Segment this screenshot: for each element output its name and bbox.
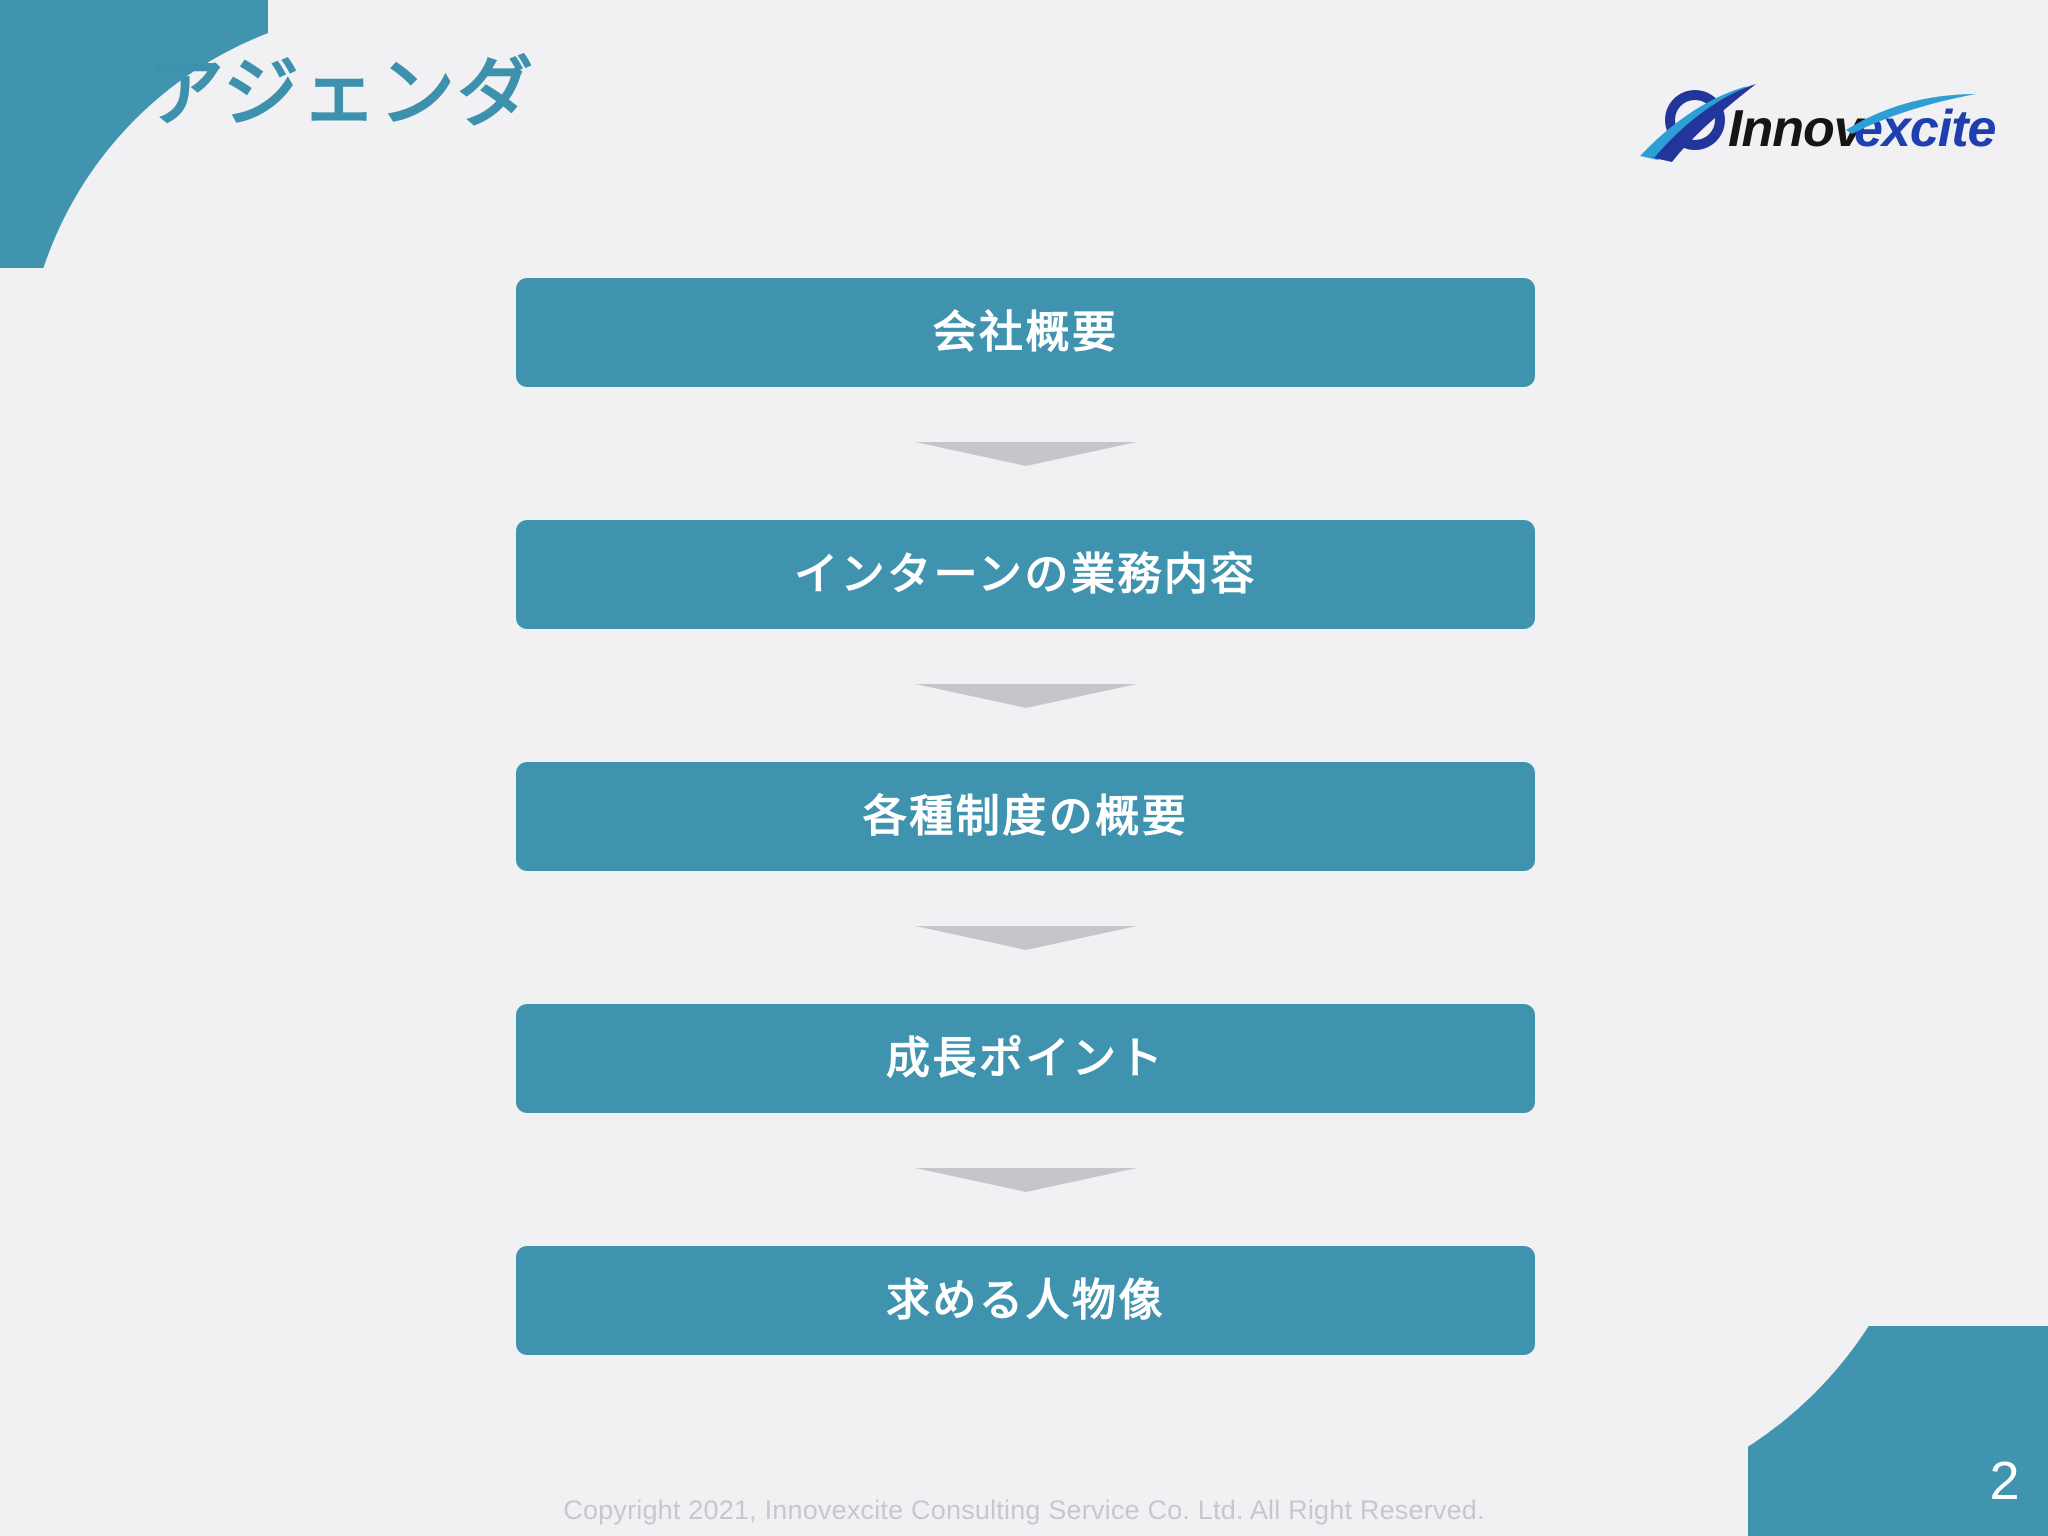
agenda-item-5[interactable]: 求める人物像 — [516, 1246, 1535, 1355]
svg-text:Innov: Innov — [1728, 100, 1866, 158]
chevron-down-icon — [516, 871, 1535, 1004]
page-title: アジェンダ — [148, 50, 535, 137]
agenda-box-label[interactable]: 求める人物像 — [516, 1246, 1535, 1355]
innovexcite-logo: Innov excite — [1632, 72, 2010, 168]
footer-copyright: Copyright 2021, Innovexcite Consulting S… — [0, 1495, 2048, 1526]
agenda-item-4[interactable]: 成長ポイント — [516, 1004, 1535, 1113]
svg-text:excite: excite — [1854, 100, 1996, 158]
agenda-flow: 会社概要 インターンの業務内容 各種制度の概要 成長ポイント 求める人物像 — [516, 278, 1535, 1355]
agenda-box-label[interactable]: インターンの業務内容 — [516, 520, 1535, 629]
agenda-box-label[interactable]: 会社概要 — [516, 278, 1535, 387]
agenda-item-2[interactable]: インターンの業務内容 — [516, 520, 1535, 629]
agenda-box-label[interactable]: 各種制度の概要 — [516, 762, 1535, 871]
chevron-down-icon — [516, 387, 1535, 520]
agenda-slide: 2 アジェンダ Innov excite 会社概要 インターンの業務内容 — [0, 0, 2048, 1536]
page-number: 2 — [1989, 1454, 2020, 1508]
chevron-down-icon — [516, 629, 1535, 762]
chevron-down-icon — [516, 1113, 1535, 1246]
agenda-box-label[interactable]: 成長ポイント — [516, 1004, 1535, 1113]
agenda-item-3[interactable]: 各種制度の概要 — [516, 762, 1535, 871]
agenda-item-1[interactable]: 会社概要 — [516, 278, 1535, 387]
